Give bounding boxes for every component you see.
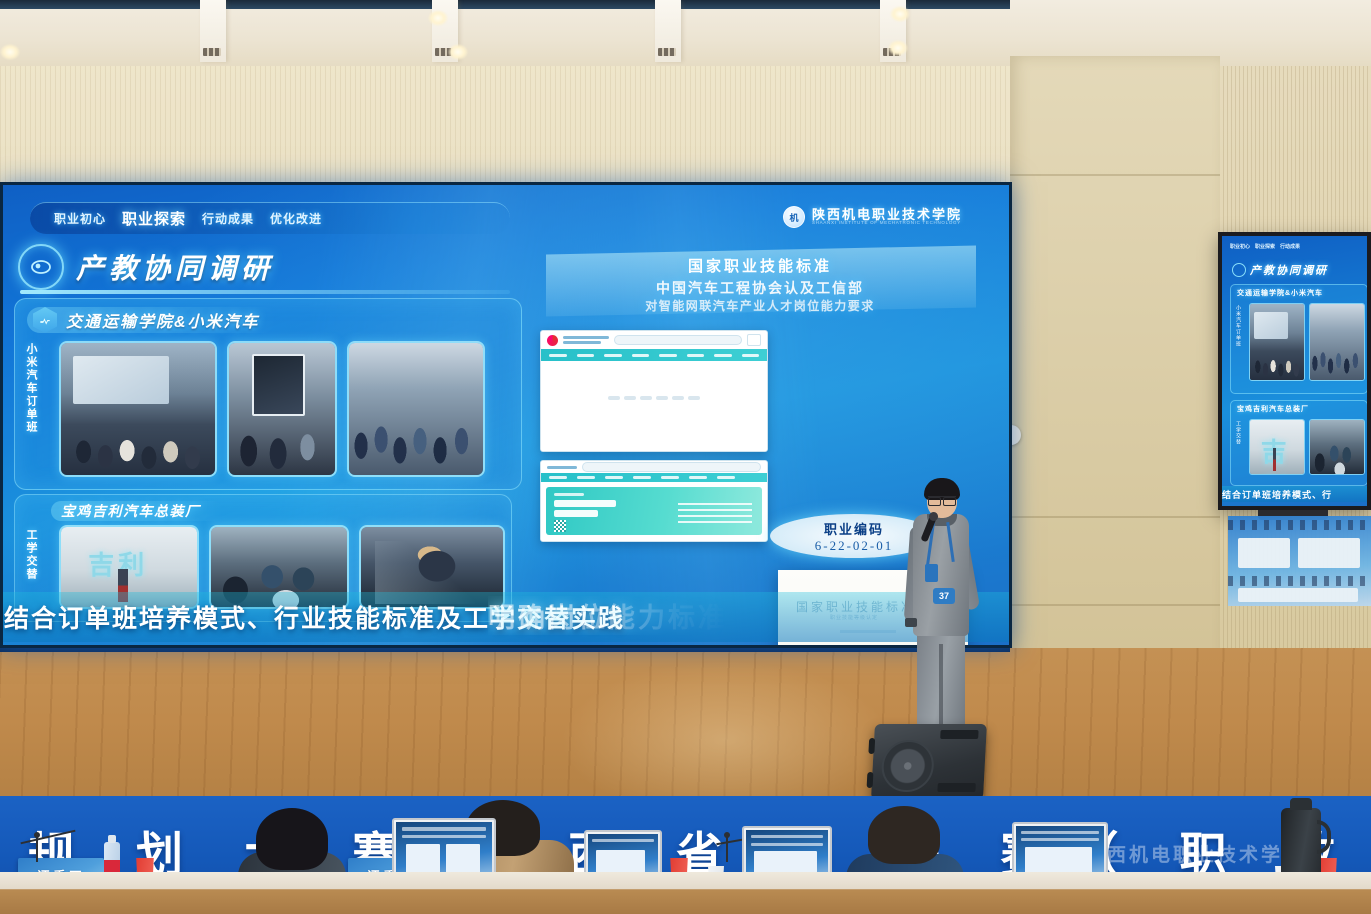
wall-alcove [1010,56,1220,676]
monitor-banner-text: 结合订单班培养模式、行 [1222,488,1332,501]
presentation-clicker [905,618,917,627]
photo-row-xiaomi [59,341,485,477]
title-underline [20,290,510,294]
ceiling-beam [200,0,226,62]
judges-backdrop-banner: 规 划 大 赛 陕 西 省 赛 决 赛（ 职 教 组 陕西机电职业技术学院 评委… [0,796,1371,914]
speaker-vent [937,783,975,792]
site-title-lines-2 [547,466,577,469]
hero-text-block: 国家职业技能标准 中国汽车工程协会认及工信部 对智能网联汽车产业人才岗位能力要求 [560,256,960,315]
monitor-card-1: 交通运输学院&小米汽车 小米汽车订单班 [1230,284,1368,394]
ceiling-downlight [888,40,908,56]
slide-bottom-banner: 结合订单班培养模式、行业技能标准及工学交替实践 明确岗位能力标准 [0,592,1012,642]
main-led-presentation-screen: 职业初心 职业探索 行动成果 优化改进 机 陕西机电职业技术学院 SHAANXI… [0,182,1012,648]
job-code-label: 职业编码 [824,519,884,538]
monitor-card-2-title: 宝鸡吉利汽车总装厂 [1237,404,1309,414]
presenter-id-badge [925,564,938,582]
ceiling-downlight [428,10,448,26]
presenter-torso [913,514,969,636]
partner-card-header: 交通运输学院&小米汽车 [27,307,276,333]
section-title-text: 产教协同调研 [76,247,274,287]
monitor-nav-item-1: 职业探索 [1255,243,1275,250]
alcove-line [1010,174,1220,176]
slide-section-title: 产教协同调研 [18,244,274,290]
slide-section-nav: 职业初心 职业探索 行动成果 优化改进 [30,202,510,234]
monitor-nav-item-0: 职业初心 [1230,243,1250,250]
school-logo: 机 陕西机电职业技术学院 SHAANXI INSTITUTE OF MECHAT… [783,206,962,228]
photo-classroom-audience [347,341,485,477]
school-name-en: SHAANXI INSTITUTE OF MECHATRONIC TECHNOL… [812,221,962,226]
hero-line-3: 对智能网联汽车产业人才岗位能力要求 [560,298,960,315]
site-nav-bar[interactable] [541,349,767,361]
presenter-number-badge: 37 [933,588,955,604]
site-body [541,361,767,452]
monitor-card-2: 宝鸡吉利汽车总装厂 工学交替 [1230,400,1368,486]
lower-right-display-reflection [1228,516,1371,606]
side-confidence-monitor: 职业初心 职业探索 行动成果 产教协同调研 交通运输学院&小米汽车 小米汽车订单… [1218,232,1371,510]
site-nav-bar-2[interactable] [541,473,767,482]
ceiling-downlight [890,6,910,22]
browser-shot-standard-site [540,330,768,452]
school-seal-icon: 机 [783,206,805,228]
site-search-field[interactable] [614,335,742,345]
school-name-cn: 陕西机电职业技术学院 [812,208,962,222]
stage-monitor-speaker [871,724,987,798]
transport-icon [33,307,57,333]
speaker-woofer [880,740,935,792]
photo-classroom-lecture [59,341,217,477]
partner-card-2-vertical-label: 工学交替 [21,529,39,581]
alcove-line [1010,516,1220,518]
partner-card-title: 交通运输学院&小米汽车 [66,308,260,332]
nav-item-2: 行动成果 [202,210,254,227]
speaker-vent [940,730,978,739]
speaker-handle [868,738,875,754]
presenter-speaker: 37 [905,478,975,746]
presenter-glasses [928,496,956,503]
nav-item-3: 优化改进 [270,210,322,227]
monitor-nav: 职业初心 职业探索 行动成果 [1230,243,1300,250]
browser-shot-china-sae [540,460,768,542]
monitor-card-1-title: 交通运输学院&小米汽车 [1237,288,1323,298]
site-title-lines [563,336,609,344]
alcove-line [1010,604,1220,606]
monitor-research-icon [1232,263,1246,277]
research-icon [18,244,64,290]
judges-desk [0,872,1371,914]
nav-item-0: 职业初心 [54,210,106,227]
china-sae-membership-banner [546,487,762,535]
monitor-card-2-vertical: 工学交替 [1235,421,1242,445]
ceiling-downlight [0,44,20,60]
speaker-handle [867,772,874,788]
monitor-photo-2 [1309,303,1365,381]
partner-card-vertical-label: 小米汽车订单班 [21,343,39,434]
browser-top-bar [541,331,767,349]
partner-card-2-header: 宝鸡吉利汽车总装厂 [51,501,223,521]
monitor-section-title-text: 产教协同调研 [1250,262,1328,278]
job-code-value: 6-22-02-01 [815,538,894,554]
hero-line-1: 国家职业技能标准 [560,256,960,278]
site-body-placeholder [608,396,700,400]
monitor-nav-item-2: 行动成果 [1280,243,1300,250]
site-search-field-2[interactable] [582,462,761,472]
presenter-legs [917,630,965,736]
qr-code-icon [554,520,566,532]
monitor-card-1-vertical: 小米汽车订单班 [1235,305,1242,347]
school-name-block: 陕西机电职业技术学院 SHAANXI INSTITUTE OF MECHATRO… [812,208,962,226]
slide-banner-ghost-text: 明确岗位能力标准 [488,596,728,635]
browser-top-bar-2 [541,461,767,473]
ceiling-beam [655,0,681,62]
monitor-photo-4 [1309,419,1365,475]
site-body-2 [541,487,767,542]
partner-card-xiaomi: 交通运输学院&小米汽车 小米汽车订单班 [14,298,522,490]
hero-line-2: 中国汽车工程协会认及工信部 [560,278,960,298]
monitor-section-title: 产教协同调研 [1232,262,1328,278]
ceiling-downlight [448,44,468,60]
site-menu-button[interactable] [747,334,761,346]
monitor-photo-1 [1249,303,1305,381]
monitor-photo-3 [1249,419,1305,475]
partner-card-2-title: 宝鸡吉利汽车总装厂 [61,501,201,521]
gooseneck-microphone [726,836,728,862]
watermark-text: 陕西机电职业技术学院 [1085,840,1305,867]
ceiling-dark-strip [0,0,1010,9]
nav-item-1: 职业探索 [122,208,186,229]
monitor-bottom-banner: 结合订单班培养模式、行 [1222,486,1367,502]
site-logo-icon [547,335,558,346]
photo-classroom-discussion [227,341,337,477]
